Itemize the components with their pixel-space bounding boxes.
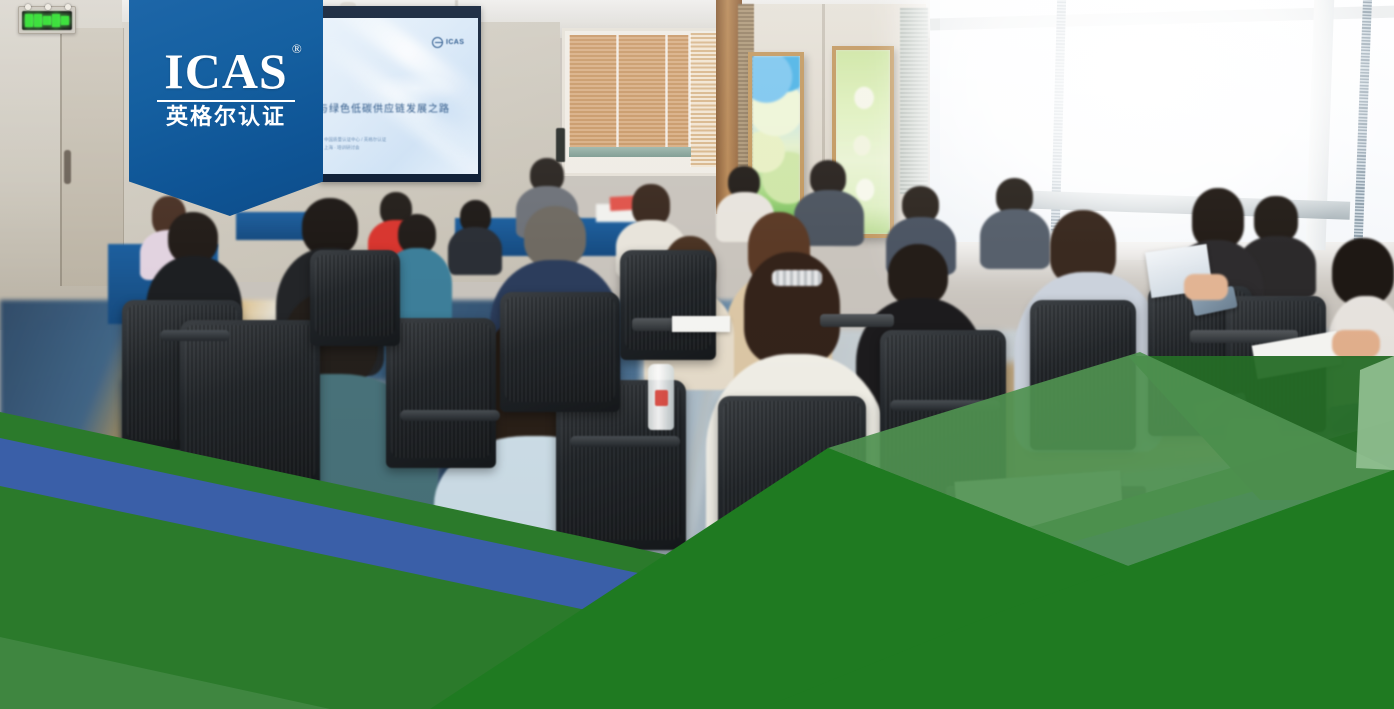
brand-logo-divider <box>157 100 295 102</box>
brand-logo-content: ICAS ® 英格尔认证 <box>129 46 323 129</box>
brand-logo-panel: ICAS ® 英格尔认证 <box>129 0 323 216</box>
registered-trademark-icon: ® <box>292 42 303 55</box>
band-light-green-edge <box>1356 356 1394 470</box>
brand-logo-letters: ICAS <box>164 43 287 99</box>
brand-logo-wordmark: ICAS ® <box>164 46 287 96</box>
brand-logo-chinese: 英格尔认证 <box>129 107 323 129</box>
poster-canvas: ICAS 来 核算与绿色低碳供应链发展之路 中国质量认证中心 / 英格尔认证 上… <box>0 0 1394 709</box>
